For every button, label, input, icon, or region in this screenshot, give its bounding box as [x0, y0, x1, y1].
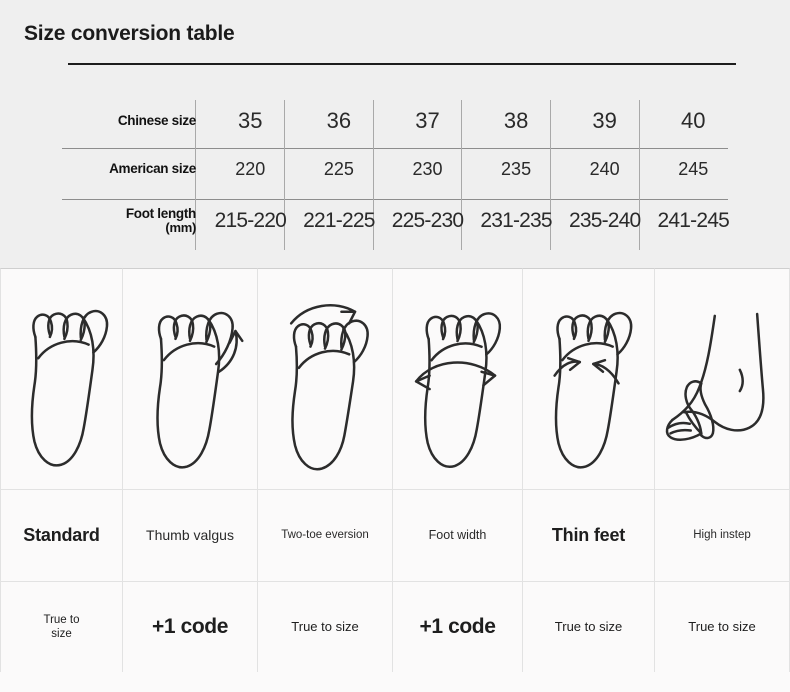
- foot-type-label-two-toe-eversion: Two-toe eversion: [258, 490, 393, 582]
- row-label-foot-length: Foot length (mm): [62, 194, 206, 248]
- page-title: Size conversion table: [24, 22, 235, 46]
- cell-chinese-size-1: 35: [206, 98, 295, 144]
- cell-chinese-size-5: 39: [560, 98, 649, 144]
- cell-chinese-size-4: 38: [472, 98, 561, 144]
- foot-profile-high-instep-icon: [657, 275, 787, 483]
- cell-chinese-size-6: 40: [649, 98, 738, 144]
- row-label-text: Chinese size: [118, 113, 196, 128]
- row-label-chinese-size: Chinese size: [62, 98, 206, 144]
- cell-chinese-size-2: 36: [295, 98, 384, 144]
- foot-illustration-cell-standard: [0, 268, 123, 490]
- size-recommendation-high-instep: True to size: [655, 582, 790, 672]
- foot-type-section: Standard Thumb valgus Two-toe eversion F…: [0, 268, 790, 692]
- foot-sole-thumb-valgus-icon: [125, 275, 255, 483]
- cell-american-size-3: 230: [383, 144, 472, 194]
- row-label-unit: (mm): [62, 221, 196, 236]
- size-recommendation-foot-width: +1 code: [393, 582, 523, 672]
- foot-illustration-cell-thumb-valgus: [123, 268, 258, 490]
- size-recommendation-thin-feet: True to size: [523, 582, 655, 672]
- size-recommendation-two-toe-eversion: True to size: [258, 582, 393, 672]
- section-bottom-spacer: [0, 672, 790, 692]
- foot-type-label-foot-width: Foot width: [393, 490, 523, 582]
- foot-sole-thin-icon: [525, 275, 652, 483]
- cell-american-size-6: 245: [649, 144, 738, 194]
- size-conversion-infographic: Size conversion table Chinese size 35 36…: [0, 0, 790, 692]
- cell-american-size-4: 235: [472, 144, 561, 194]
- cell-foot-length-4: 231-235: [472, 194, 561, 248]
- foot-type-label-thumb-valgus: Thumb valgus: [123, 490, 258, 582]
- foot-type-label-thin-feet: Thin feet: [523, 490, 655, 582]
- foot-illustration-cell-thin-feet: [523, 268, 655, 490]
- foot-illustration-cell-two-toe-eversion: [258, 268, 393, 490]
- foot-sole-standard-icon: [3, 275, 120, 483]
- size-conversion-table: Chinese size 35 36 37 38 39 40 American …: [62, 98, 738, 248]
- conversion-table-section: Size conversion table Chinese size 35 36…: [0, 0, 790, 268]
- cell-american-size-1: 220: [206, 144, 295, 194]
- row-label-american-size: American size: [62, 144, 206, 194]
- cell-foot-length-1: 215-220: [206, 194, 295, 248]
- cell-american-size-2: 225: [295, 144, 384, 194]
- cell-foot-length-2: 221-225: [295, 194, 384, 248]
- foot-type-grid: Standard Thumb valgus Two-toe eversion F…: [0, 268, 790, 672]
- foot-type-label-standard: Standard: [0, 490, 123, 582]
- row-label-text: Foot length: [126, 206, 196, 221]
- cell-foot-length-3: 225-230: [383, 194, 472, 248]
- recommendation-line-1: True to: [43, 614, 79, 626]
- table-row: Chinese size 35 36 37 38 39 40: [62, 98, 738, 144]
- row-label-text: American size: [109, 161, 196, 176]
- foot-sole-width-icon: [395, 275, 520, 483]
- foot-illustration-cell-high-instep: [655, 268, 790, 490]
- cell-foot-length-5: 235-240: [560, 194, 649, 248]
- table-row: American size 220 225 230 235 240 245: [62, 144, 738, 194]
- size-recommendation-standard: True to size: [0, 582, 123, 672]
- foot-illustration-cell-foot-width: [393, 268, 523, 490]
- recommendation-line-2: size: [51, 628, 71, 640]
- table-row: Foot length (mm) 215-220 221-225 225-230…: [62, 194, 738, 248]
- foot-sole-two-toe-eversion-icon: [260, 275, 390, 483]
- foot-type-label-high-instep: High instep: [655, 490, 790, 582]
- title-divider: [68, 63, 736, 65]
- size-recommendation-thumb-valgus: +1 code: [123, 582, 258, 672]
- cell-foot-length-6: 241-245: [649, 194, 738, 248]
- cell-chinese-size-3: 37: [383, 98, 472, 144]
- cell-american-size-5: 240: [560, 144, 649, 194]
